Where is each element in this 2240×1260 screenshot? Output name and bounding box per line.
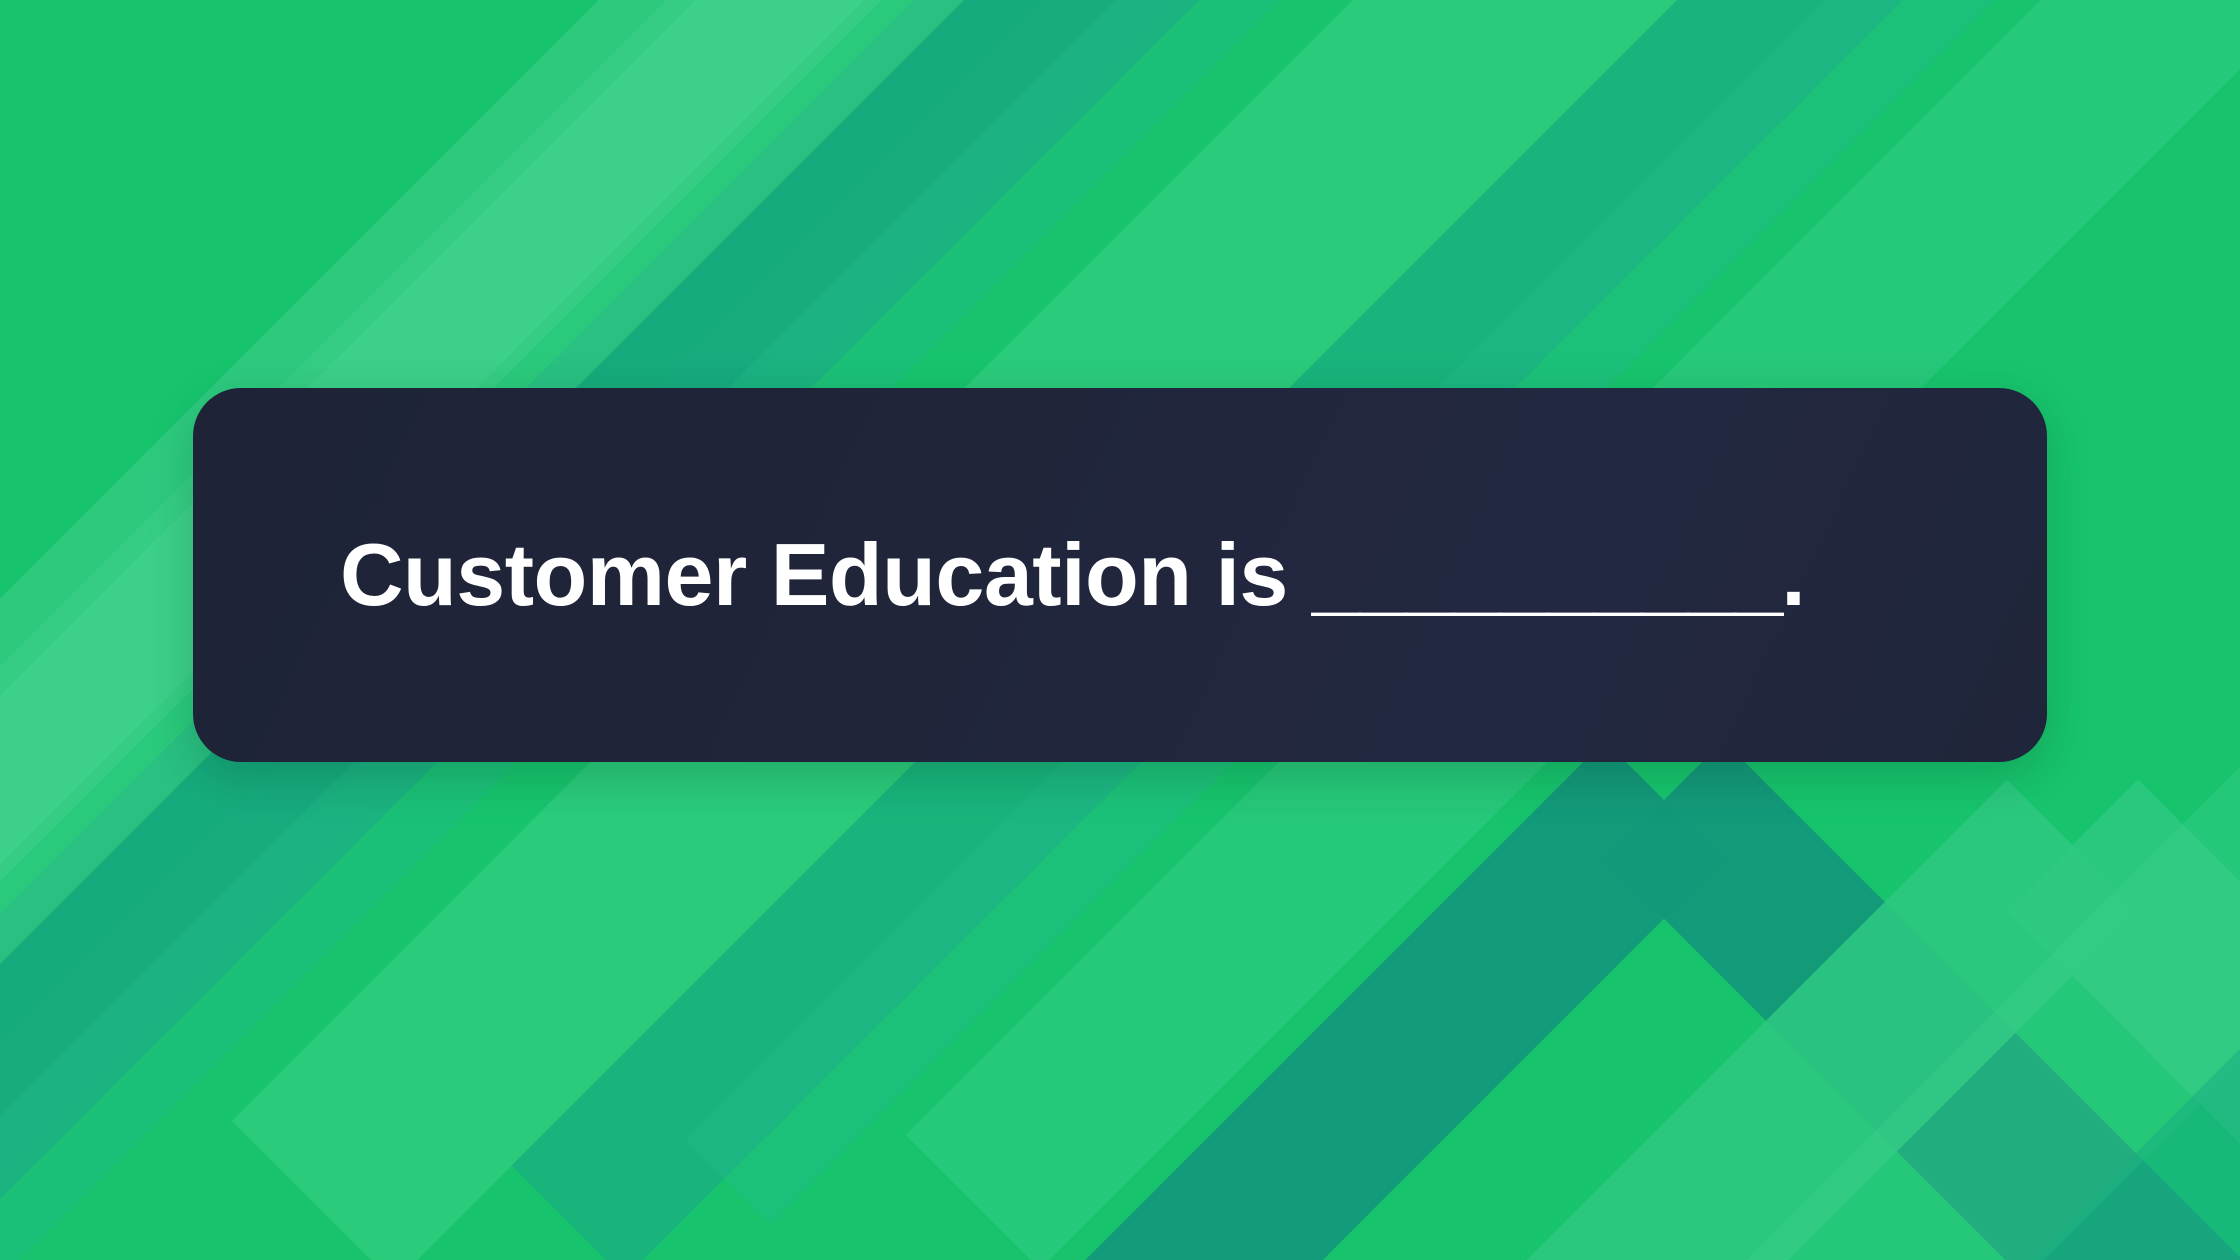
- chevron-light-left-leg: [2007, 780, 2240, 1260]
- quote-headline: Customer Education is __________.: [193, 526, 1805, 625]
- chevron-light-right-leg: [1017, 780, 2138, 1260]
- quote-prefix: Customer Education is: [340, 525, 1312, 624]
- quote-suffix: .: [1781, 525, 1805, 624]
- quote-card: Customer Education is __________.: [193, 388, 2047, 762]
- chevron-dark-left-leg: [1605, 741, 2240, 1260]
- quote-blank: __________: [1312, 525, 1781, 624]
- slide-canvas: Customer Education is __________.: [0, 0, 2240, 1260]
- chevron-dark-right-leg: [615, 741, 1724, 1260]
